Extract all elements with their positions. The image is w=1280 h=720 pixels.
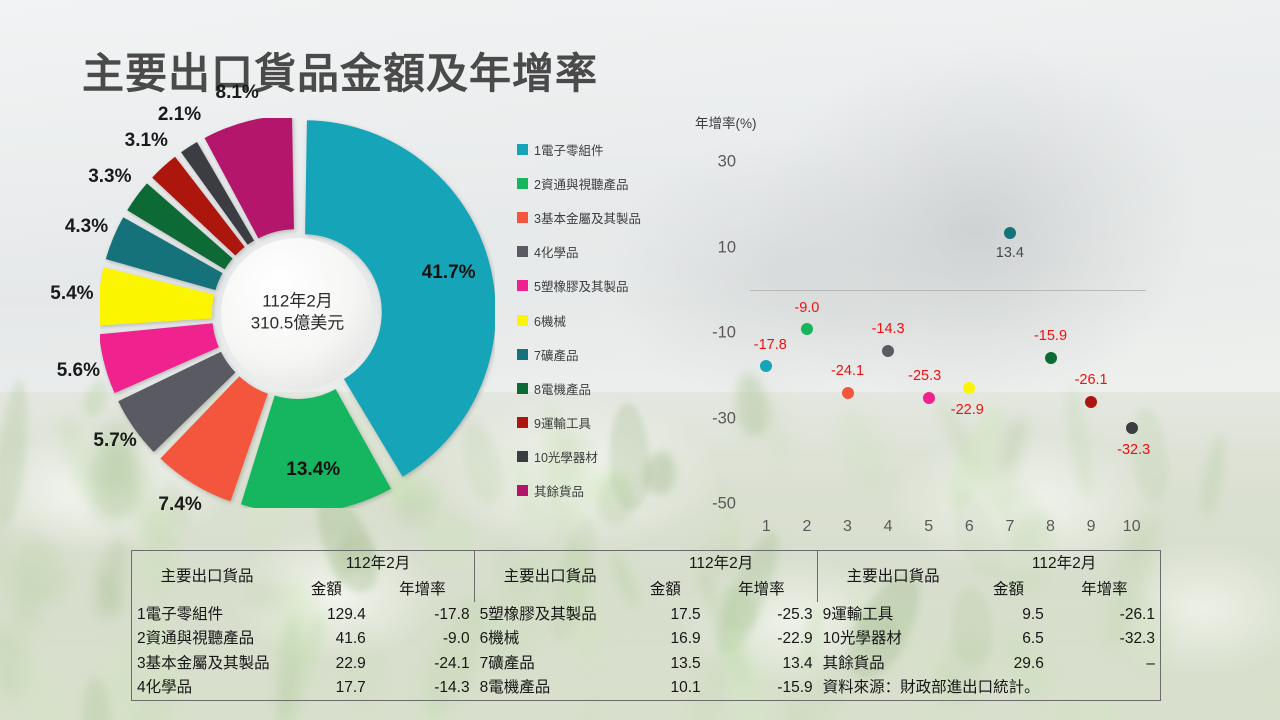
scatter-point[interactable] <box>1126 422 1138 434</box>
legend-item-label: 7礦產品 <box>534 345 578 364</box>
donut-slice-label: 5.4% <box>50 283 93 305</box>
table-cell-goods: 10光學器材 <box>818 627 969 652</box>
table-cell-growth: -14.3 <box>371 676 475 701</box>
table-cell-growth: -25.3 <box>706 602 818 627</box>
donut-slice-label: 5.6% <box>57 360 100 382</box>
table-header-period: 112年2月 <box>968 551 1160 577</box>
donut-slice-label: 7.4% <box>158 494 201 516</box>
scatter-point[interactable] <box>760 360 772 372</box>
scatter-y-tick-label: -30 <box>690 409 736 428</box>
table-cell-amount: 129.4 <box>282 602 371 627</box>
table-cell-growth: -22.9 <box>706 627 818 652</box>
legend-color-swatch-icon <box>517 212 528 223</box>
scatter-point-label: -9.0 <box>794 300 819 316</box>
scatter-point-label: 13.4 <box>996 245 1024 261</box>
legend-color-swatch-icon <box>517 246 528 257</box>
donut-slice-label: 4.3% <box>65 216 108 238</box>
scatter-point-label: -32.3 <box>1117 442 1150 458</box>
table-header-growth: 年增率 <box>371 577 475 602</box>
scatter-x-tick-label: 10 <box>1123 518 1141 536</box>
scatter-point-label: -26.1 <box>1075 372 1108 388</box>
legend-item[interactable]: 5塑橡膠及其製品 <box>517 269 697 303</box>
legend-item[interactable]: 3基本金屬及其製品 <box>517 200 697 234</box>
chart-legend: 1電子零組件2資通與視聽產品3基本金屬及其製品4化學品5塑橡膠及其製品6機械7礦… <box>517 132 697 508</box>
table-cell-amount: 17.5 <box>625 602 706 627</box>
scatter-point[interactable] <box>1004 227 1016 239</box>
scatter-point-label: -17.8 <box>754 337 787 353</box>
donut-center-line1: 112年2月 <box>251 291 345 313</box>
table-cell-goods: 1電子零組件 <box>132 602 282 627</box>
donut-slice-label: 41.7% <box>422 262 476 284</box>
table-header-amount: 金額 <box>625 577 706 602</box>
table-cell-growth: -32.3 <box>1049 627 1160 652</box>
scatter-chart: 年增率(%) 3010-10-30-50 12345678910 -17.8-9… <box>690 112 1170 532</box>
table-cell-goods: 3基本金屬及其製品 <box>132 651 282 676</box>
table-subheader-row: 金額年增率金額年增率金額年增率 <box>132 577 1160 602</box>
legend-color-swatch-icon <box>517 383 528 394</box>
table-source-note: 資料來源：財政部進出口統計。 <box>818 676 1160 701</box>
legend-item-label: 8電機產品 <box>534 379 591 398</box>
legend-color-swatch-icon <box>517 485 528 496</box>
scatter-point[interactable] <box>842 387 854 399</box>
scatter-point[interactable] <box>1085 396 1097 408</box>
donut-slice-label: 13.4% <box>286 459 340 481</box>
scatter-zero-gridline <box>750 290 1146 291</box>
table-cell-amount: 10.1 <box>625 676 706 701</box>
scatter-axis-title: 年增率(%) <box>695 112 757 132</box>
legend-item-label: 6機械 <box>534 311 566 330</box>
scatter-point[interactable] <box>923 392 935 404</box>
scatter-x-tick-label: 8 <box>1046 518 1055 536</box>
table-cell-amount: 29.6 <box>968 651 1049 676</box>
donut-center-line2: 310.5億美元 <box>251 313 345 335</box>
table-header-amount: 金額 <box>282 577 371 602</box>
table-row: 3基本金屬及其製品22.9-24.17礦產品13.513.4其餘貨品29.6– <box>132 651 1160 676</box>
table-cell-growth: – <box>1049 651 1160 676</box>
legend-item[interactable]: 2資通與視聽產品 <box>517 166 697 200</box>
table-cell-amount: 22.9 <box>282 651 371 676</box>
table-cell-amount: 6.5 <box>968 627 1049 652</box>
legend-item-label: 2資通與視聽產品 <box>534 174 628 193</box>
table-cell-goods: 2資通與視聽產品 <box>132 627 282 652</box>
scatter-y-tick-label: 10 <box>690 238 736 257</box>
legend-item-label: 10光學器材 <box>534 447 598 466</box>
scatter-point-label: -22.9 <box>951 402 984 418</box>
table-cell-growth: -17.8 <box>371 602 475 627</box>
scatter-x-tick-label: 2 <box>802 518 811 536</box>
scatter-point-label: -24.1 <box>831 363 864 379</box>
scatter-point[interactable] <box>801 323 813 335</box>
scatter-y-tick-label: -10 <box>690 324 736 343</box>
legend-item[interactable]: 6機械 <box>517 303 697 337</box>
legend-color-swatch-icon <box>517 178 528 189</box>
table-cell-growth: 13.4 <box>706 651 818 676</box>
scatter-point[interactable] <box>882 345 894 357</box>
table-header-goods: 主要出口貨品 <box>818 551 969 602</box>
table-cell-growth: -9.0 <box>371 627 475 652</box>
scatter-x-tick-label: 9 <box>1087 518 1096 536</box>
scatter-x-tick-label: 3 <box>843 518 852 536</box>
table-header-goods: 主要出口貨品 <box>475 551 626 602</box>
legend-item-label: 其餘貨品 <box>534 481 584 500</box>
table-header-row: 主要出口貨品112年2月主要出口貨品112年2月主要出口貨品112年2月 <box>132 551 1160 577</box>
legend-item[interactable]: 1電子零組件 <box>517 132 697 166</box>
legend-item[interactable]: 7礦產品 <box>517 337 697 371</box>
table-header-period: 112年2月 <box>282 551 475 577</box>
table-cell-growth: -15.9 <box>706 676 818 701</box>
donut-slice-label: 5.7% <box>93 430 136 452</box>
export-goods-table: 主要出口貨品112年2月主要出口貨品112年2月主要出口貨品112年2月金額年增… <box>132 551 1160 700</box>
table-row: 2資通與視聽產品41.6-9.06機械16.9-22.910光學器材6.5-32… <box>132 627 1160 652</box>
donut-slice-label: 3.3% <box>88 166 131 188</box>
table-cell-amount: 13.5 <box>625 651 706 676</box>
legend-item[interactable]: 10光學器材 <box>517 440 697 474</box>
table-cell-growth: -26.1 <box>1049 602 1160 627</box>
scatter-y-tick-label: 30 <box>690 153 736 172</box>
legend-item-label: 5塑橡膠及其製品 <box>534 276 628 295</box>
legend-color-swatch-icon <box>517 417 528 428</box>
table-cell-goods: 8電機產品 <box>475 676 626 701</box>
table-cell-goods: 其餘貨品 <box>818 651 969 676</box>
table-header-growth: 年增率 <box>706 577 818 602</box>
data-table: 主要出口貨品112年2月主要出口貨品112年2月主要出口貨品112年2月金額年增… <box>131 550 1161 701</box>
legend-item[interactable]: 9運輸工具 <box>517 406 697 440</box>
table-row: 1電子零組件129.4-17.85塑橡膠及其製品17.5-25.39運輸工具9.… <box>132 602 1160 627</box>
donut-chart: 41.7%13.4%7.4%5.7%5.6%5.4%4.3%3.3%3.1%2.… <box>100 118 495 508</box>
legend-item[interactable]: 8電機產品 <box>517 371 697 405</box>
scatter-x-tick-label: 1 <box>762 518 771 536</box>
legend-item-label: 4化學品 <box>534 242 578 261</box>
scatter-y-tick-label: -50 <box>690 495 736 514</box>
legend-color-swatch-icon <box>517 451 528 462</box>
scatter-point-label: -14.3 <box>872 321 905 337</box>
legend-item[interactable]: 4化學品 <box>517 235 697 269</box>
table-cell-amount: 41.6 <box>282 627 371 652</box>
scatter-point[interactable] <box>963 382 975 394</box>
legend-item[interactable]: 其餘貨品 <box>517 474 697 508</box>
table-cell-amount: 17.7 <box>282 676 371 701</box>
table-cell-amount: 16.9 <box>625 627 706 652</box>
legend-color-swatch-icon <box>517 280 528 291</box>
table-header-amount: 金額 <box>968 577 1049 602</box>
table-cell-goods: 4化學品 <box>132 676 282 701</box>
scatter-point-label: -15.9 <box>1034 328 1067 344</box>
scatter-x-tick-label: 6 <box>965 518 974 536</box>
donut-slice-label: 3.1% <box>125 130 168 152</box>
legend-item-label: 9運輸工具 <box>534 413 591 432</box>
legend-color-swatch-icon <box>517 349 528 360</box>
table-header-goods: 主要出口貨品 <box>132 551 282 602</box>
page-title: 主要出口貨品金額及年增率 <box>82 40 598 101</box>
scatter-x-tick-label: 4 <box>884 518 893 536</box>
legend-color-swatch-icon <box>517 144 528 155</box>
legend-item-label: 1電子零組件 <box>534 140 603 159</box>
donut-slice-label: 8.1% <box>216 82 259 104</box>
table-cell-goods: 7礦產品 <box>475 651 626 676</box>
donut-center-text: 112年2月 310.5億美元 <box>251 291 345 336</box>
table-cell-goods: 6機械 <box>475 627 626 652</box>
table-cell-growth: -24.1 <box>371 651 475 676</box>
table-cell-amount: 9.5 <box>968 602 1049 627</box>
table-header-growth: 年增率 <box>1049 577 1160 602</box>
scatter-point[interactable] <box>1045 352 1057 364</box>
table-cell-goods: 5塑橡膠及其製品 <box>475 602 626 627</box>
table-header-period: 112年2月 <box>625 551 818 577</box>
scatter-x-tick-label: 5 <box>924 518 933 536</box>
donut-slice-label: 2.1% <box>158 104 201 126</box>
scatter-point-label: -25.3 <box>908 368 941 384</box>
table-row: 4化學品17.7-14.38電機產品10.1-15.9資料來源：財政部進出口統計… <box>132 676 1160 701</box>
table-cell-goods: 9運輸工具 <box>818 602 969 627</box>
legend-color-swatch-icon <box>517 315 528 326</box>
legend-item-label: 3基本金屬及其製品 <box>534 208 641 227</box>
scatter-x-tick-label: 7 <box>1005 518 1014 536</box>
